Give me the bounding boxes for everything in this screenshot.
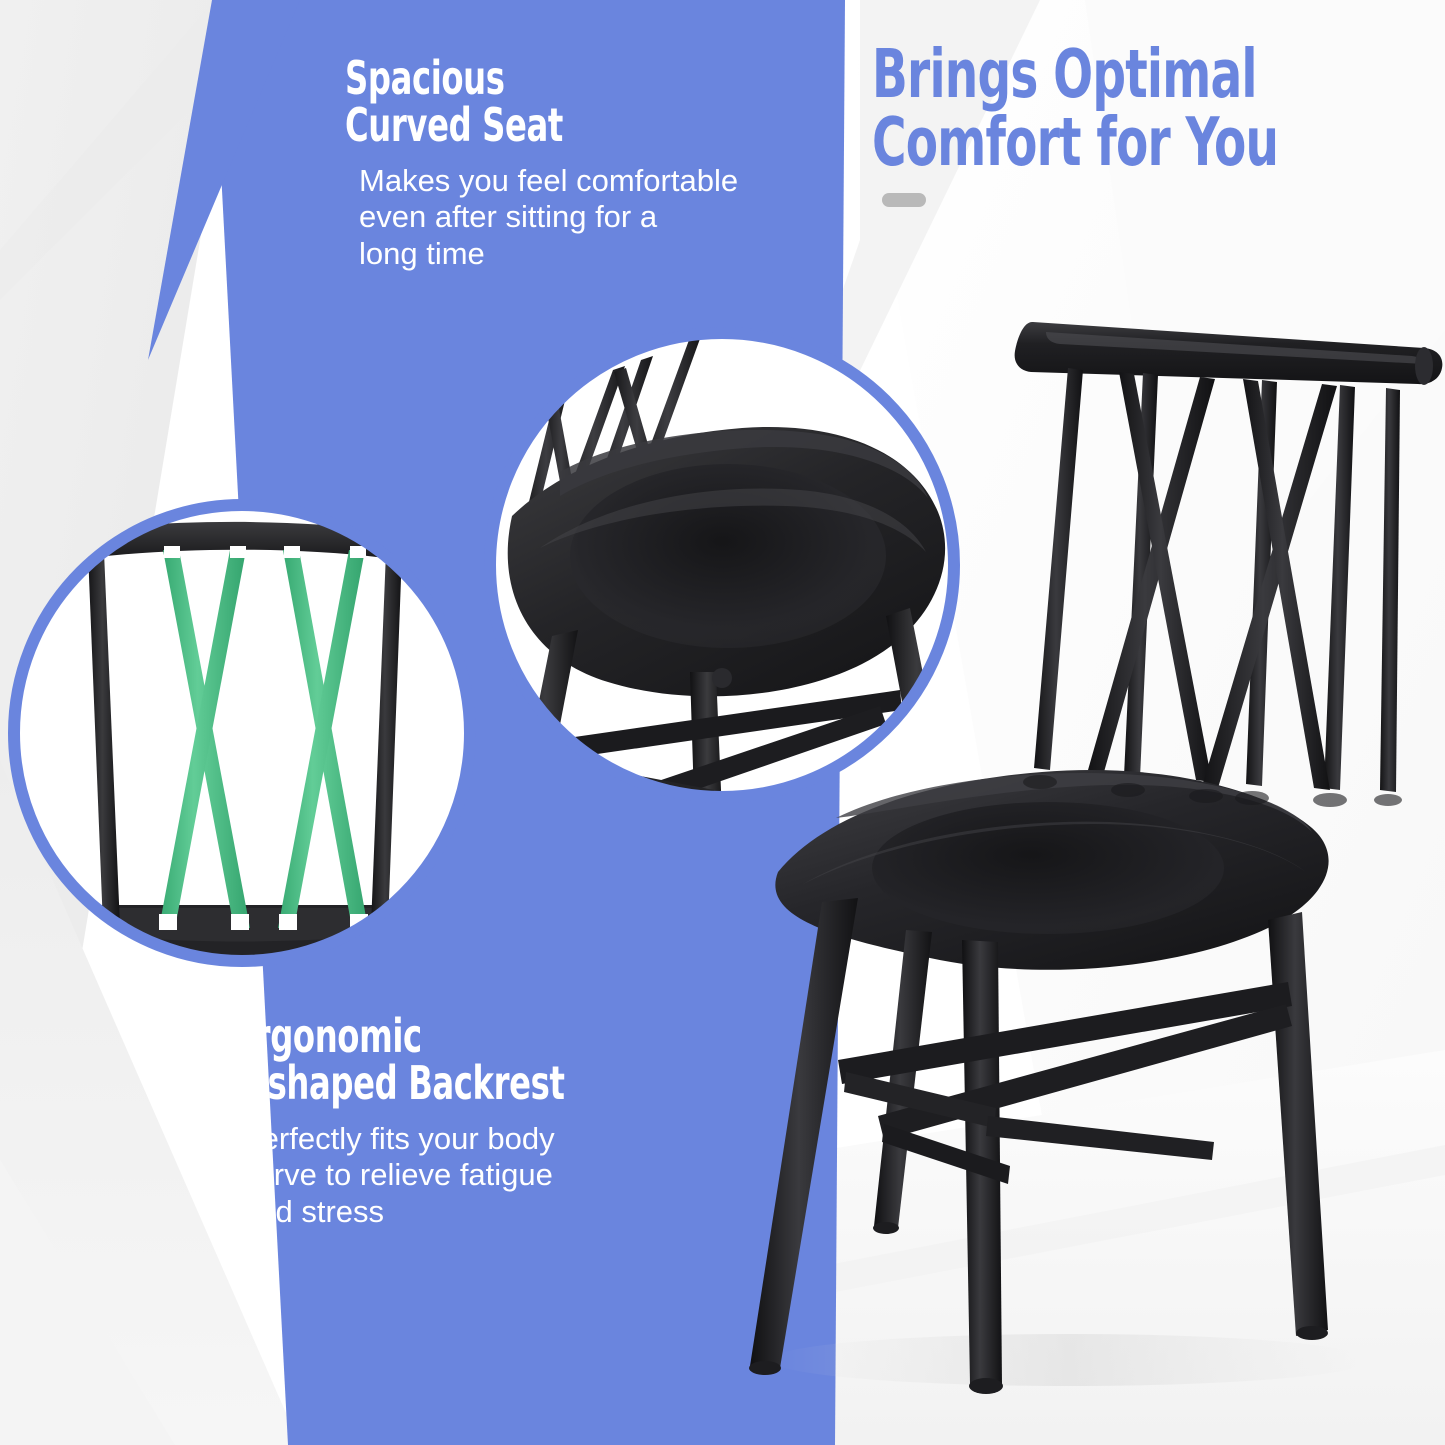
feature-title-line1: Spacious <box>345 55 751 102</box>
headline-divider-dash <box>882 193 926 207</box>
headline-line2: Comfort for You <box>872 108 1340 176</box>
feature-title-line2: Curved Seat <box>345 102 751 149</box>
feature-body-line3: and stress <box>241 1194 801 1231</box>
feature-title-line2: X-shaped Backrest <box>233 1060 670 1107</box>
headline-line1: Brings Optimal <box>872 40 1340 108</box>
feature-body-line2: curve to relieve fatigue <box>241 1157 801 1194</box>
page-title: Brings Optimal Comfort for You <box>872 40 1445 207</box>
feature-body-line1: Perfectly fits your body <box>241 1121 801 1158</box>
feature-spacious-curved-seat: Spacious Curved Seat Makes you feel comf… <box>345 55 865 273</box>
feature-ergonomic-x-shaped-backrest: Ergonomic X-shaped Backrest Perfectly fi… <box>233 1013 793 1231</box>
feature-title-line1: Ergonomic <box>233 1013 670 1060</box>
infographic-canvas: Spacious Curved Seat Makes you feel comf… <box>0 0 1445 1445</box>
feature-body: Perfectly fits your body curve to reliev… <box>241 1121 801 1231</box>
feature-body-line3: long time <box>359 236 999 273</box>
